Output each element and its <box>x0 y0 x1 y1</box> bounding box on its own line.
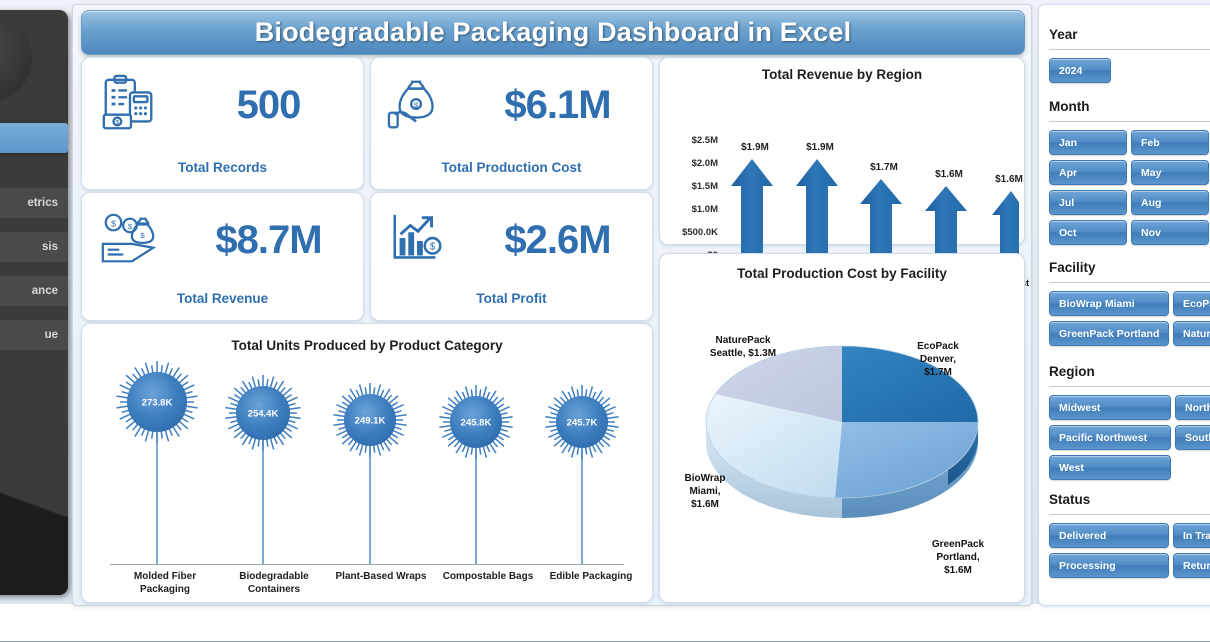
bar-value-0: $1.9M <box>725 142 785 153</box>
x-label-3: Compostable Bags <box>434 570 542 583</box>
slicer-item-greenpack-portland[interactable]: GreenPack Portland <box>1049 321 1169 346</box>
slicer-item-in-transit[interactable]: In Transit <box>1173 523 1210 548</box>
y-tick-1: $2.0M <box>662 158 718 169</box>
sidebar-item-label: ance <box>32 285 58 297</box>
slicer-divider <box>1049 282 1210 283</box>
y-tick-2: $1.5M <box>662 181 718 192</box>
chart-revenue-by-region[interactable]: Total Revenue by Region $2.5M $2.0M $1.5… <box>659 57 1025 245</box>
pie-label-greenpack: GreenPack Portland, $1.6M <box>912 538 1004 577</box>
left-nav-sidebar: etrics sis ance ue <box>0 10 68 595</box>
x-label-0: Molded Fiber Packaging <box>110 570 220 596</box>
lollipop-series: 273.8K254.4K249.1K245.8K245.7K <box>82 324 652 602</box>
svg-text:$: $ <box>430 242 436 253</box>
svg-text:$: $ <box>111 218 116 228</box>
kpi-value: 500 <box>174 76 363 134</box>
slicer-item-naturepack-seattle[interactable]: NaturePack Seattle <box>1173 321 1210 346</box>
slicer-item-processing[interactable]: Processing <box>1049 553 1169 578</box>
kpi-label: Total Production Cost <box>371 160 652 175</box>
pie-label-line1: EcoPack <box>892 340 984 353</box>
sidebar-item-label: sis <box>42 241 58 253</box>
slicer-item-jul[interactable]: Jul <box>1049 190 1127 215</box>
dashboard-app: etrics sis ance ue Biodegradable Packagi… <box>0 0 1210 642</box>
x-label-4: Edible Packaging <box>538 570 644 583</box>
slicer-item-jan[interactable]: Jan <box>1049 130 1127 155</box>
slicer-header-region: Region <box>1049 364 1095 379</box>
dashboard-title-banner: Biodegradable Packaging Dashboard in Exc… <box>81 10 1025 55</box>
slicer-divider <box>1049 121 1210 122</box>
svg-text:$: $ <box>115 119 119 126</box>
svg-text:$: $ <box>414 100 419 109</box>
slicer-header-month: Month <box>1049 99 1089 114</box>
slicer-item-nov[interactable]: Nov <box>1131 220 1209 245</box>
chart-units-by-category[interactable]: Total Units Produced by Product Category… <box>81 323 653 603</box>
svg-text:$: $ <box>140 231 145 240</box>
dashboard-surface: Biodegradable Packaging Dashboard in Exc… <box>72 4 1032 606</box>
slicer-panel: Year 2024 Month Jan Feb Mar Apr May Jun … <box>1038 4 1210 606</box>
kpi-card-total-production-cost[interactable]: $ $6.1M Total Production Cost <box>370 57 653 190</box>
sidebar-item-label: etrics <box>27 197 58 209</box>
bubble-value: 254.4K <box>248 409 279 420</box>
bar-value-2: $1.7M <box>854 162 914 173</box>
pie-label-biowrap: BioWrap Miami, $1.6M <box>666 472 744 511</box>
kpi-card-total-revenue[interactable]: $ $ $ $8.7M Total Revenue <box>81 192 364 321</box>
pie-label-naturepack: NaturePack Seattle, $1.3M <box>682 334 804 360</box>
pie-label-line3: $1.6M <box>912 564 1004 577</box>
chart-title: Total Revenue by Region <box>660 67 1024 82</box>
bubble-value: 245.8K <box>461 418 492 429</box>
slicer-header-status: Status <box>1049 492 1090 507</box>
pie-label-line2: Seattle, $1.3M <box>682 347 804 360</box>
coins-cash-icon: $ $ $ <box>98 209 160 271</box>
hand-money-bag-icon: $ <box>387 74 449 136</box>
sidebar-decoration <box>0 425 68 595</box>
pie-label-line1: BioWrap <box>666 472 744 485</box>
x-axis-line <box>110 564 624 565</box>
pie-label-line3: $1.6M <box>666 498 744 511</box>
kpi-value: $6.1M <box>463 76 652 134</box>
chart-cost-by-facility[interactable]: Total Production Cost by Facility <box>659 253 1025 603</box>
svg-text:$: $ <box>128 222 133 231</box>
sidebar-item-2[interactable]: sis <box>0 232 68 262</box>
kpi-card-total-profit[interactable]: $ $2.6M Total Profit <box>370 192 653 321</box>
bar-value-3: $1.6M <box>919 169 979 180</box>
sidebar-item-0[interactable] <box>0 123 68 153</box>
kpi-card-total-records[interactable]: $ 500 Total Records <box>81 57 364 190</box>
kpi-value: $2.6M <box>463 211 652 269</box>
sidebar-item-3[interactable]: ance <box>0 276 68 306</box>
pie-label-line1: GreenPack <box>912 538 1004 551</box>
pie-label-ecopack: EcoPack Denver, $1.7M <box>892 340 984 379</box>
page-title: Biodegradable Packaging Dashboard in Exc… <box>255 17 852 48</box>
bubble-value: 245.7K <box>567 418 598 429</box>
bubble-value: 249.1K <box>355 416 386 427</box>
sidebar-item-1[interactable]: etrics <box>0 188 68 218</box>
kpi-label: Total Profit <box>371 291 652 306</box>
slicer-item-west[interactable]: West <box>1049 455 1171 480</box>
bubble-value: 273.8K <box>142 398 173 409</box>
x-label-2: Plant-Based Wraps <box>325 570 437 583</box>
slicer-header-facility: Facility <box>1049 260 1096 275</box>
slicer-item-biowrap-miami[interactable]: BioWrap Miami <box>1049 291 1169 316</box>
slicer-item-oct[interactable]: Oct <box>1049 220 1127 245</box>
pie-label-line2: Miami, <box>666 485 744 498</box>
pie-label-line1: NaturePack <box>682 334 804 347</box>
app-logo <box>0 16 32 102</box>
pie-label-line2: Denver, <box>892 353 984 366</box>
slicer-item-feb[interactable]: Feb <box>1131 130 1209 155</box>
slicer-divider <box>1049 49 1210 50</box>
kpi-label: Total Revenue <box>82 291 363 306</box>
y-tick-0: $2.5M <box>662 135 718 146</box>
slicer-header-year: Year <box>1049 27 1078 42</box>
slicer-item-southeast[interactable]: Southeast <box>1175 425 1210 450</box>
pie-label-line3: $1.7M <box>892 366 984 379</box>
slicer-item-midwest[interactable]: Midwest <box>1049 395 1171 420</box>
slicer-item-delivered[interactable]: Delivered <box>1049 523 1169 548</box>
bar-value-1: $1.9M <box>790 142 850 153</box>
pie-label-line2: Portland, <box>912 551 1004 564</box>
slicer-item-ecopack-denver[interactable]: EcoPack Denver <box>1173 291 1210 316</box>
y-tick-4: $500.0K <box>662 227 718 238</box>
slicer-item-aug[interactable]: Aug <box>1131 190 1209 215</box>
clipboard-calculator-money-icon: $ <box>98 74 160 136</box>
slicer-item-northeast[interactable]: Northeast <box>1175 395 1210 420</box>
slicer-divider <box>1049 386 1210 387</box>
slicer-item-returned[interactable]: Returned <box>1173 553 1210 578</box>
kpi-label: Total Records <box>82 160 363 175</box>
bar-value-4: $1.6M <box>981 174 1037 185</box>
chart-title: Total Production Cost by Facility <box>660 266 1024 281</box>
slicer-item-2024[interactable]: 2024 <box>1049 58 1111 83</box>
growth-bar-chart-icon: $ <box>387 209 449 271</box>
kpi-value: $8.7M <box>174 211 363 269</box>
slicer-item-apr[interactable]: Apr <box>1049 160 1127 185</box>
x-label-1: Biodegradable Containers <box>219 570 329 596</box>
sidebar-item-label: ue <box>45 329 58 341</box>
slicer-divider <box>1049 514 1210 515</box>
sidebar-item-4[interactable]: ue <box>0 320 68 350</box>
slicer-item-pacific-northwest[interactable]: Pacific Northwest <box>1049 425 1171 450</box>
bottom-strip <box>0 604 1210 642</box>
slicer-item-may[interactable]: May <box>1131 160 1209 185</box>
y-tick-3: $1.0M <box>662 204 718 215</box>
